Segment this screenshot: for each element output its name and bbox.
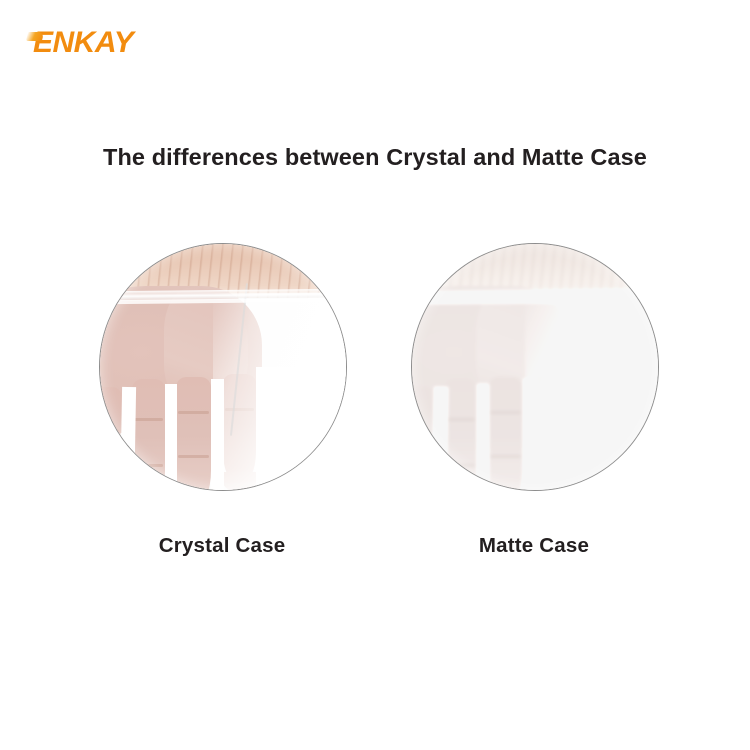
comparison-image-crystal: [99, 243, 347, 491]
finger-2: [132, 379, 165, 491]
caption-crystal-case: Crystal Case: [99, 534, 345, 558]
knuckle-crease: [490, 455, 520, 458]
caption-matte-case: Matte Case: [411, 534, 657, 558]
knuckle-crease: [178, 411, 208, 414]
case-surface-sheen: [525, 293, 659, 491]
page-title: The differences between Crystal and Matt…: [0, 144, 750, 171]
finger-gap: [120, 387, 136, 491]
brand-name: ENKAY: [33, 26, 133, 59]
knuckle-crease: [446, 418, 475, 421]
finger-gap: [477, 384, 489, 491]
finger-1: [99, 386, 122, 491]
comparison-captions: Crystal Case Matte Case: [0, 534, 750, 568]
finger-gap: [165, 384, 177, 491]
knuckle-crease: [99, 428, 119, 432]
knuckle-crease: [411, 428, 431, 432]
comparison-image-matte: [411, 243, 659, 491]
brand-swoosh-icon: [26, 32, 44, 41]
crystal-photo-scene: [100, 244, 346, 490]
knuckle-crease: [446, 464, 475, 467]
finger-gap: [432, 387, 448, 491]
finger-2: [444, 379, 477, 491]
finger-1: [411, 386, 434, 491]
finger-3: [488, 377, 522, 491]
knuckle-crease: [490, 411, 520, 414]
knuckle-crease: [134, 464, 163, 467]
knuckle-crease: [178, 455, 208, 458]
knuckle-crease: [134, 418, 163, 421]
brand-logo: ENKAY: [33, 28, 133, 58]
finger-3: [176, 377, 210, 491]
case-surface-sheen: [213, 293, 347, 491]
comparison-images: [0, 243, 750, 491]
matte-photo-scene: [412, 244, 658, 490]
